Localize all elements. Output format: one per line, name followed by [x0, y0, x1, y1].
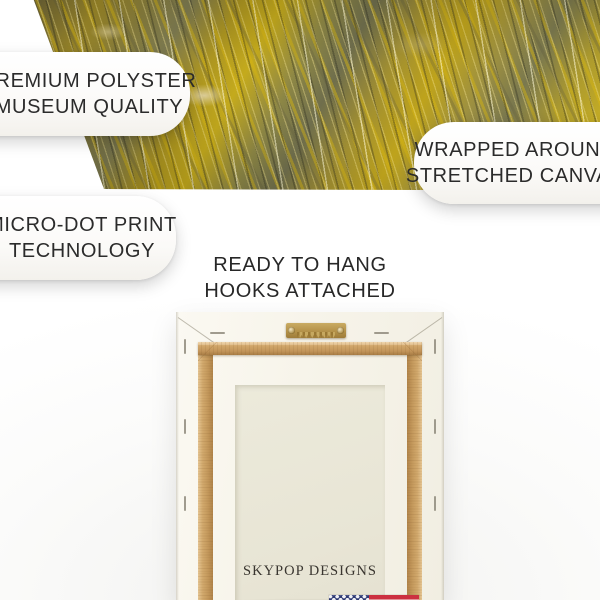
brand-label: SKYPOP DESIGNS [235, 563, 385, 580]
stretcher-bar-left [198, 342, 213, 600]
product-contact-shadow [150, 596, 470, 600]
stretcher-bar-right [407, 342, 422, 600]
feature-pill-wrapped: WRAPPED AROUND STRETCHED CANVAS [414, 122, 600, 204]
sawtooth-hanger-icon [286, 323, 346, 338]
staple-mark [184, 419, 186, 434]
canvas-back-product: SKYPOP DESIGNS [176, 312, 444, 600]
hanger-screw-right [337, 327, 344, 334]
wood-stretcher-frame: SKYPOP DESIGNS [198, 342, 422, 600]
ready-caption-line1: READY TO HANG [0, 252, 600, 278]
feature-pill-wrapped-line2: STRETCHED CANVAS [406, 163, 600, 189]
hanger-screw-left [288, 327, 295, 334]
staple-mark [184, 496, 186, 511]
stretcher-bar-top [198, 342, 422, 355]
canvas-back-field: SKYPOP DESIGNS [235, 385, 385, 600]
stretcher-mitre-right [403, 342, 422, 361]
staple-mark [434, 339, 436, 354]
staple-mark [434, 419, 436, 434]
ready-caption-line2: HOOKS ATTACHED [0, 278, 600, 304]
feature-pill-premium-line1: PREMIUM POLYSTER [0, 68, 196, 94]
staple-mark [374, 332, 389, 334]
feature-pill-microdot-line1: MICRO-DOT PRINT [0, 212, 177, 238]
feature-pill-wrapped-line1: WRAPPED AROUND [415, 137, 600, 163]
canvas-left-edge-shadow [176, 312, 179, 600]
feature-pill-premium: PREMIUM POLYSTER MUSEUM QUALITY [0, 52, 190, 136]
stretcher-mitre-left [198, 342, 217, 361]
staple-mark [210, 332, 225, 334]
ready-to-hang-caption: READY TO HANG HOOKS ATTACHED [0, 252, 600, 305]
staple-mark [434, 496, 436, 511]
feature-pill-premium-line2: MUSEUM QUALITY [0, 94, 183, 120]
canvas-right-edge-shadow [441, 312, 444, 600]
staple-mark [184, 339, 186, 354]
product-feature-graphic: PREMIUM POLYSTER MUSEUM QUALITY MICRO-DO… [0, 0, 600, 600]
